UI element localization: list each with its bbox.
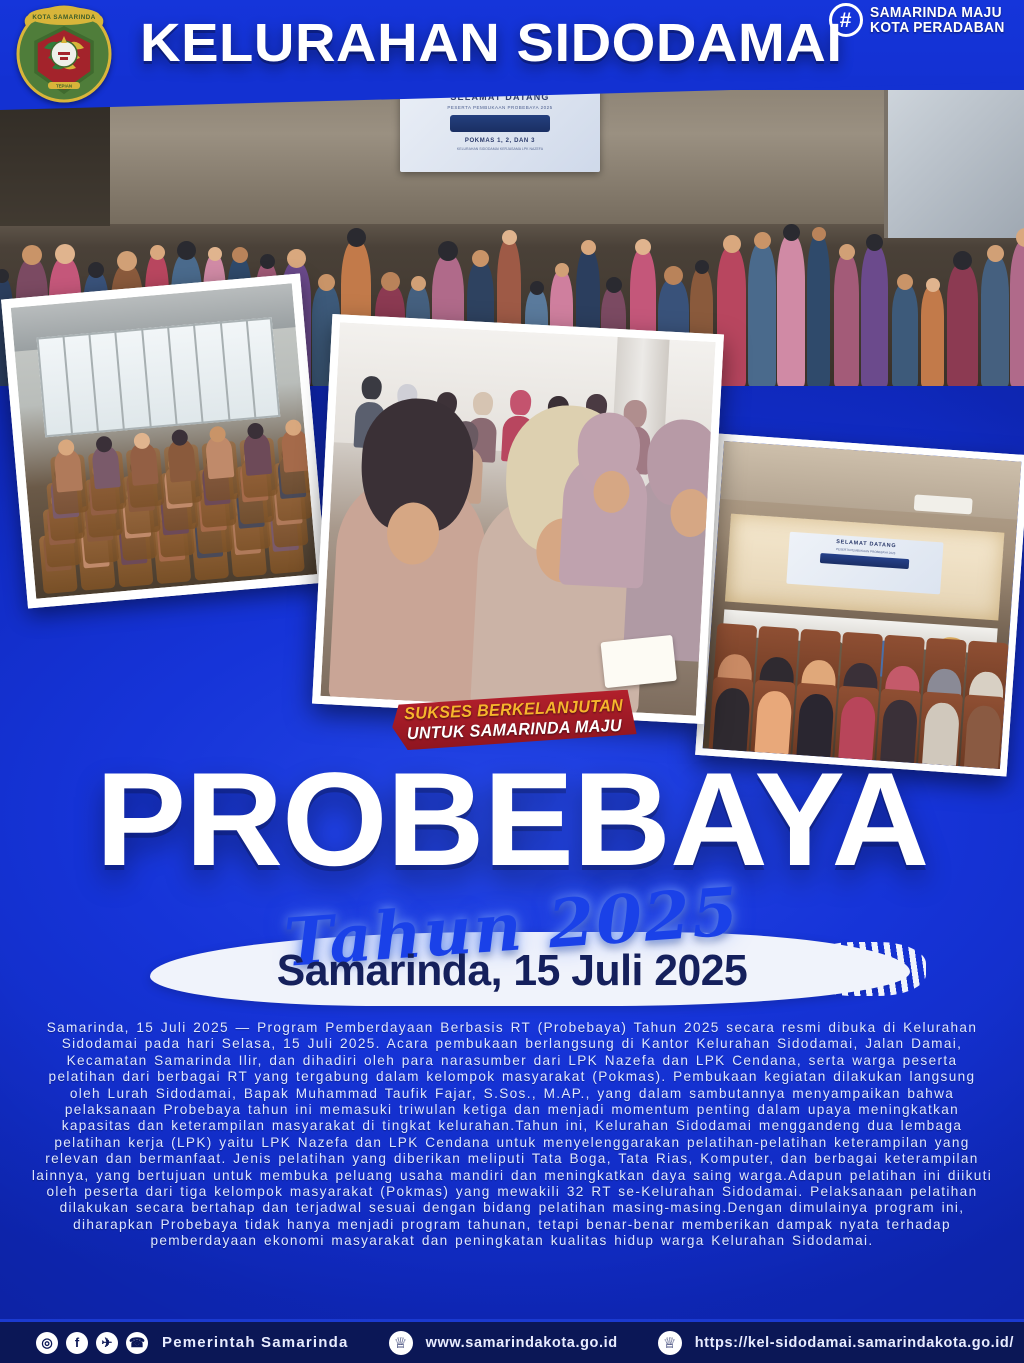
article-body: Samarinda, 15 Juli 2025 — Program Pember… bbox=[30, 1020, 994, 1250]
svg-text:KOTA SAMARINDA: KOTA SAMARINDA bbox=[32, 14, 95, 21]
photo-ruang-pertemuan: SELAMAT DATANG PESERTA PEMBUKAAN PROBEBA… bbox=[695, 434, 1024, 777]
instagram-icon[interactable]: ◎ bbox=[36, 1332, 58, 1354]
kelurahan-url[interactable]: https://kel-sidodamai.samarindakota.go.i… bbox=[695, 1335, 1014, 1351]
right-photo-banner: SELAMAT DATANG PESERTA PEMBUKAAN PROBEBA… bbox=[787, 532, 944, 595]
footer-bar: ◎f✈☎ Pemerintah Samarinda ♕ www.samarind… bbox=[0, 1319, 1024, 1363]
social-handle-label: Pemerintah Samarinda bbox=[162, 1334, 349, 1351]
photo-aula-peserta bbox=[1, 274, 327, 609]
photo-collage: SELAMAT DATANG PESERTA PEMBUKAAN PROBEBA… bbox=[0, 56, 1024, 756]
hash-icon: # bbox=[829, 3, 863, 37]
globe-icon: ♕ bbox=[389, 1331, 413, 1355]
backdrop-line2: PESERTA PEMBUKAAN PROBEBAYA 2025 bbox=[447, 105, 552, 110]
svg-text:TEPIAN: TEPIAN bbox=[56, 84, 72, 89]
poster-root: SELAMAT DATANG PESERTA PEMBUKAAN PROBEBA… bbox=[0, 0, 1024, 1363]
event-date-subtitle: Samarinda, 15 Juli 2025 bbox=[15, 946, 1008, 996]
social-icon-group: ◎f✈☎ bbox=[36, 1332, 148, 1354]
whatsapp-icon[interactable]: ☎ bbox=[126, 1332, 148, 1354]
globe-icon-2: ♕ bbox=[658, 1331, 682, 1355]
backdrop-line4: KELURAHAN SIDODAMAI KERJASAMA LPK NAZEFA bbox=[457, 147, 543, 151]
photo-peserta-perempuan bbox=[312, 314, 724, 724]
website-url[interactable]: www.samarindakota.go.id bbox=[426, 1335, 618, 1351]
badge-line2: KOTA PERADABAN bbox=[870, 20, 1005, 35]
backdrop-line3: POKMAS 1, 2, DAN 3 bbox=[465, 138, 535, 144]
kota-samarinda-emblem-icon: KOTA SAMARINDA TEPIAN bbox=[14, 4, 114, 104]
samarinda-maju-badge: # SAMARINDA MAJU KOTA PERADABAN bbox=[829, 3, 1016, 37]
title-block: PROBEBAYA Tahun 2025 Samarinda, 15 Juli … bbox=[0, 742, 1024, 1012]
badge-line1: SAMARINDA MAJU bbox=[870, 5, 1005, 20]
facebook-icon[interactable]: f bbox=[66, 1332, 88, 1354]
twitter-icon[interactable]: ✈ bbox=[96, 1332, 118, 1354]
page-title: KELURAHAN SIDODAMAI bbox=[140, 12, 843, 74]
